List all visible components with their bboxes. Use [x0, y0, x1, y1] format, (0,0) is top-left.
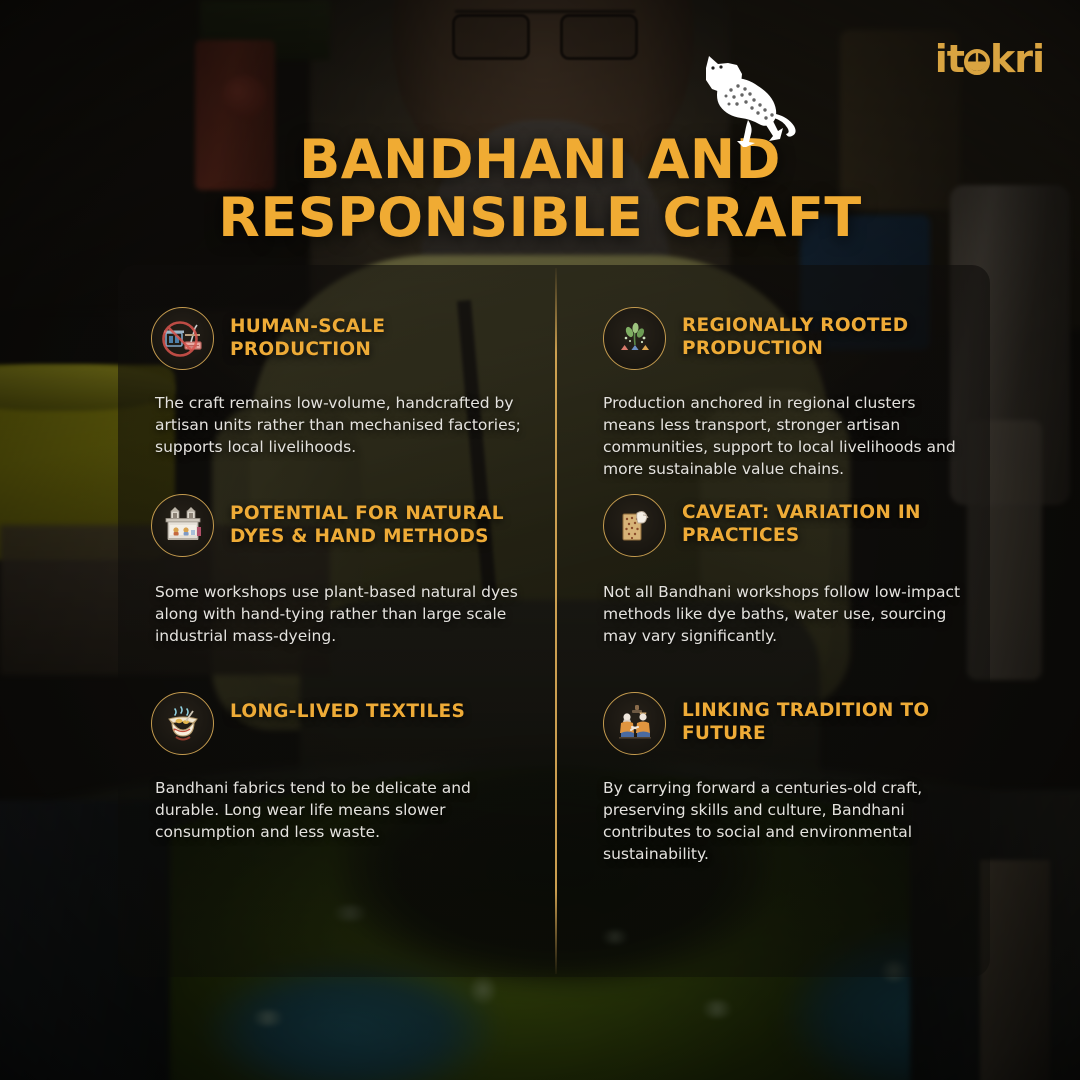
page-title: BANDHANI AND RESPONSIBLE CRAFT: [0, 131, 1080, 247]
card-body: Production anchored in regional clusters…: [603, 392, 966, 481]
card-body: Not all Bandhani workshops follow low-im…: [603, 581, 966, 647]
card-header: POTENTIAL FOR NATURAL DYES & HAND METHOD…: [151, 470, 531, 557]
card-body: Some workshops use plant-based natural d…: [155, 581, 531, 647]
card-regionally-rooted-production: REGIONALLY ROOTED PRODUCTION Production …: [555, 265, 990, 470]
card-human-scale-production: HUMAN-SCALE PRODUCTION The craft remains…: [118, 265, 555, 470]
points-grid: HUMAN-SCALE PRODUCTION The craft remains…: [118, 265, 990, 977]
title-line-2: RESPONSIBLE CRAFT: [0, 189, 1080, 247]
card-body: By carrying forward a centuries-old craf…: [603, 777, 966, 866]
bandhani-cat-mascot-icon: [690, 52, 800, 147]
logo-text-after: kri: [990, 37, 1044, 81]
card-title: CAVEAT: VARIATION IN PRACTICES: [682, 494, 966, 547]
no-factory-machine-icon: [151, 307, 214, 370]
card-title: LINKING TRADITION TO FUTURE: [682, 692, 966, 745]
card-body: The craft remains low-volume, handcrafte…: [155, 392, 531, 458]
plant-and-dye-mounds-icon: [603, 307, 666, 370]
card-title: HUMAN-SCALE PRODUCTION: [230, 307, 531, 361]
logo-text-before: it: [935, 37, 964, 81]
card-caveat-variation-in-practices: CAVEAT: VARIATION IN PRACTICES Not all B…: [555, 470, 990, 660]
card-header: HUMAN-SCALE PRODUCTION: [151, 265, 531, 370]
card-header: LONG-LIVED TEXTILES: [151, 660, 531, 755]
hand-holding-patterned-fabric-icon: [603, 494, 666, 557]
card-header: REGIONALLY ROOTED PRODUCTION: [603, 265, 966, 370]
two-artisans-working-icon: [603, 692, 666, 755]
card-long-lived-textiles: LONG-LIVED TEXTILES Bandhani fabrics ten…: [118, 660, 555, 977]
card-body: Bandhani fabrics tend to be delicate and…: [155, 777, 531, 843]
card-title: LONG-LIVED TEXTILES: [230, 692, 465, 724]
steaming-dye-pot-icon: [151, 692, 214, 755]
card-header: LINKING TRADITION TO FUTURE: [603, 660, 966, 755]
card-header: CAVEAT: VARIATION IN PRACTICES: [603, 470, 966, 557]
brand-logo[interactable]: itkri: [935, 40, 1044, 78]
card-linking-tradition-to-future: LINKING TRADITION TO FUTURE By carrying …: [555, 660, 990, 977]
card-title: POTENTIAL FOR NATURAL DYES & HAND METHOD…: [230, 494, 531, 548]
card-potential-for-natural-dyes: POTENTIAL FOR NATURAL DYES & HAND METHOD…: [118, 470, 555, 660]
artisan-workshop-building-icon: [151, 494, 214, 557]
basket-o-icon: [964, 49, 990, 75]
infographic-poster: itkri BANDHANI A: [0, 0, 1080, 1080]
card-title: REGIONALLY ROOTED PRODUCTION: [682, 307, 966, 360]
